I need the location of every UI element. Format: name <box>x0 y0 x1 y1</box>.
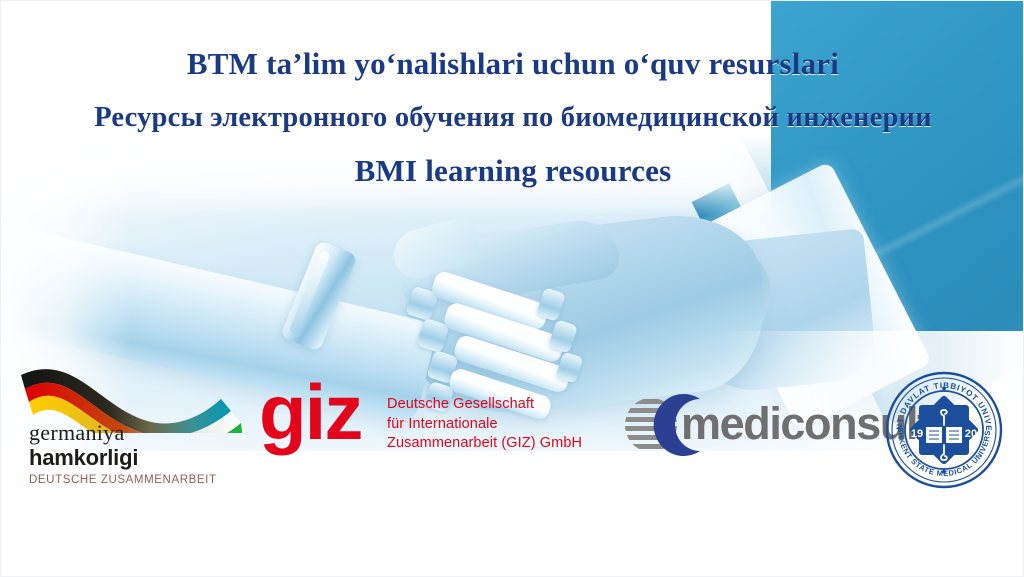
title-russian: Ресурсы электронного обучения по биомеди… <box>1 101 1024 135</box>
logo-tashkent-state-medical-university: TOSHKENT DAVLAT TIBBIYOT UNIVERSITETI TA… <box>885 371 1003 489</box>
giz-subtitle-line-3: Zusammenarbeit (GIZ) GmbH <box>387 434 609 454</box>
logo-line-germaniya: germaniya <box>29 421 217 445</box>
logo-mediconsult: mediconsult <box>623 391 893 459</box>
germaniya-hamkorligi-text: germaniya hamkorligi DEUTSCHE ZUSAMMENAR… <box>29 421 217 486</box>
bmi-learning-resources-banner: BTM ta’lim yo‘nalishlari uchun o‘quv res… <box>0 0 1024 577</box>
giz-wordmark: giz <box>259 373 361 451</box>
title-uzbek: BTM ta’lim yo‘nalishlari uchun o‘quv res… <box>1 47 1024 81</box>
logo-giz: giz Deutsche Gesellschaft für Internatio… <box>259 381 609 473</box>
seal-year-right: 20 <box>965 428 977 440</box>
giz-subtitle-line-2: für Internationale <box>387 415 609 435</box>
logo-line-hamkorligi: hamkorligi <box>29 445 217 470</box>
logo-line-deutsche-zusammenarbeit: DEUTSCHE ZUSAMMENARBEIT <box>29 474 217 486</box>
seal-year-left: 19 <box>911 428 923 440</box>
university-seal-icon: TOSHKENT DAVLAT TIBBIYOT UNIVERSITETI TA… <box>885 371 1003 489</box>
title-english: BMI learning resources <box>1 154 1024 188</box>
logo-germaniya-hamkorligi: germaniya hamkorligi DEUTSCHE ZUSAMMENAR… <box>15 353 245 493</box>
title-block: BTM ta’lim yo‘nalishlari uchun o‘quv res… <box>1 47 1024 188</box>
logo-strip: germaniya hamkorligi DEUTSCHE ZUSAMMENAR… <box>1 353 1024 503</box>
giz-subtitle-line-1: Deutsche Gesellschaft <box>387 395 609 415</box>
giz-subtitle: Deutsche Gesellschaft für Internationale… <box>387 395 609 454</box>
